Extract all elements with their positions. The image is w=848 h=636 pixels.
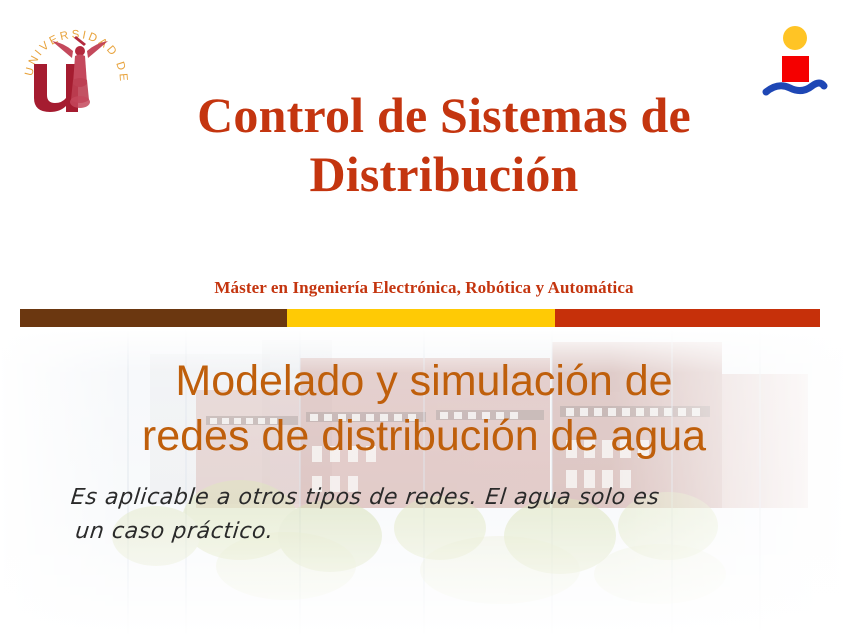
escuela-mark-logo <box>762 24 828 98</box>
university-crest-icon: UNIVERSIDAD DE SEVILLA <box>16 6 136 124</box>
universidad-de-sevilla-logo: UNIVERSIDAD DE SEVILLA <box>16 6 136 124</box>
divider-bar <box>20 309 820 327</box>
title-line-1: Control de Sistemas de <box>197 87 691 143</box>
heading-line-2: redes de distribución de agua <box>24 409 824 464</box>
mark-icon <box>762 24 828 98</box>
square-shape <box>782 56 809 82</box>
wave-shape <box>766 83 824 92</box>
page-title: Control de Sistemas de Distribución <box>124 86 764 204</box>
heading-line-1: Modelado y simulación de <box>24 354 824 409</box>
program-subtitle: Máster en Ingeniería Electrónica, Robóti… <box>24 278 824 298</box>
university-angel-figure <box>52 36 108 108</box>
divider-segment-brown <box>20 309 287 327</box>
circle-shape <box>783 26 807 50</box>
divider-segment-yellow <box>287 309 555 327</box>
divider-segment-red <box>555 309 820 327</box>
slide-heading: Modelado y simulación de redes de distri… <box>24 354 824 464</box>
title-line-2: Distribución <box>309 146 578 202</box>
presentation-slide: UNIVERSIDAD DE SEVILLA <box>0 0 848 636</box>
